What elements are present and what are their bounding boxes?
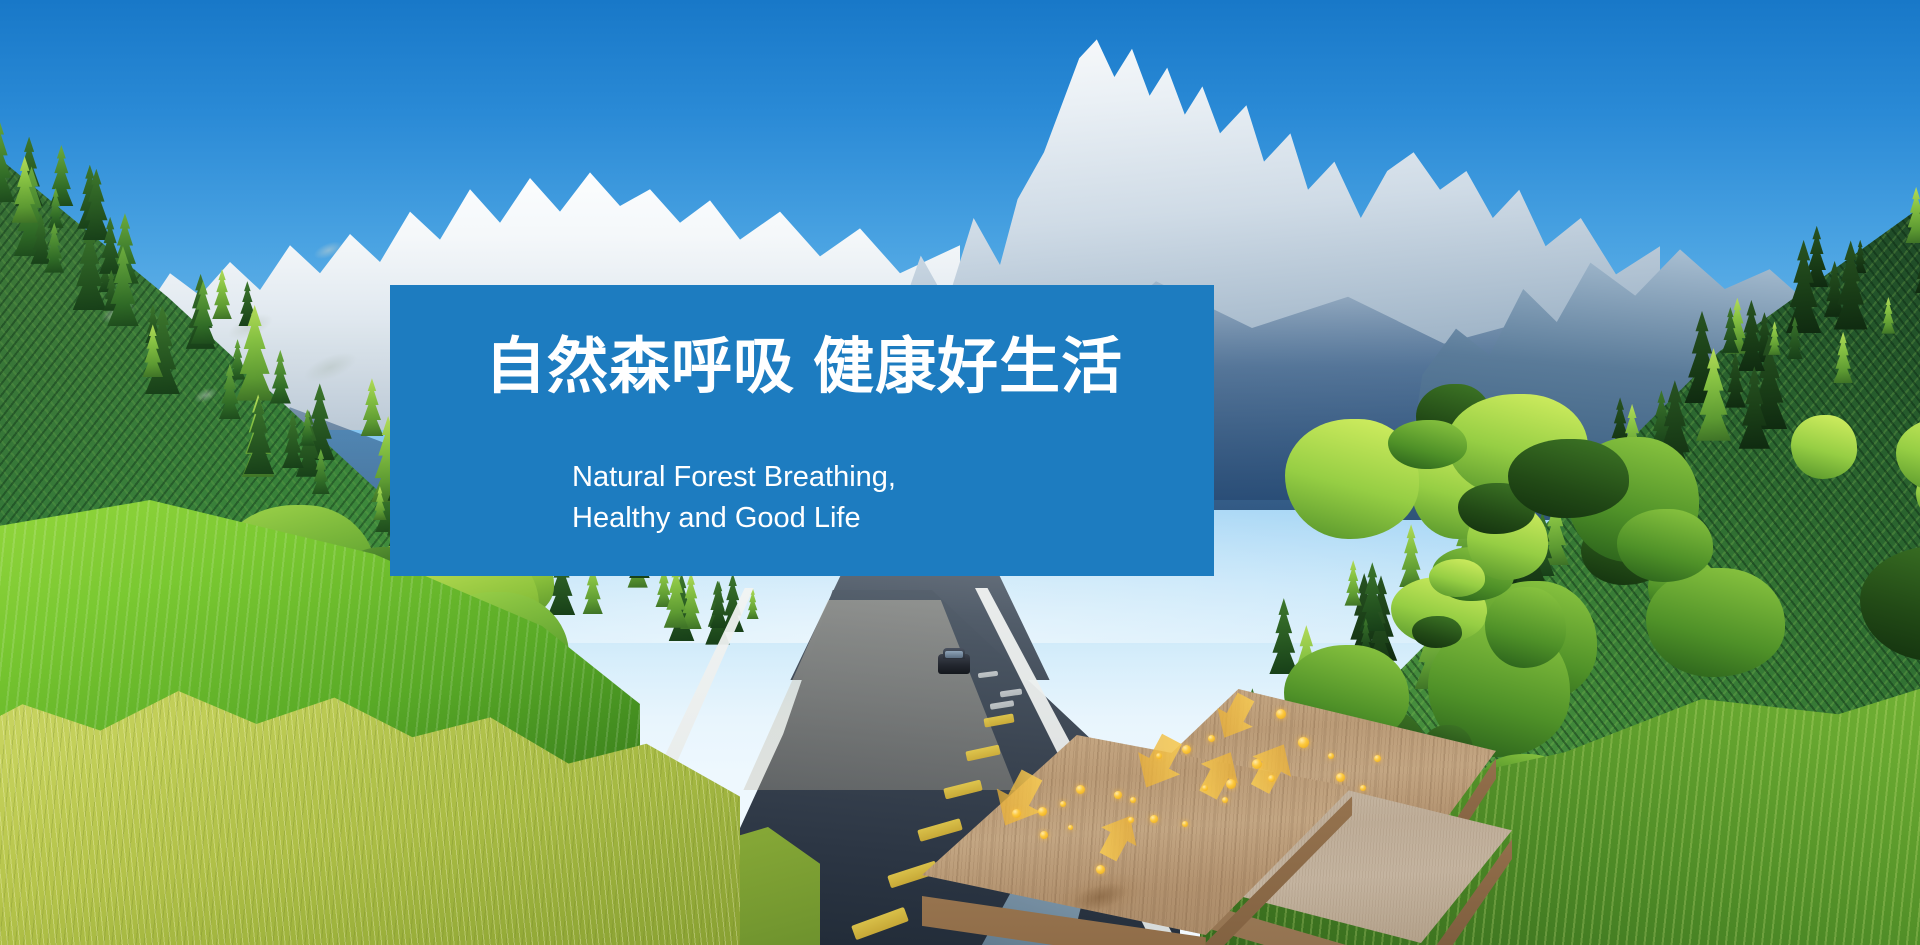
car-windshield — [945, 651, 963, 658]
air-particle-icon — [1276, 709, 1286, 719]
foliage-blob — [1388, 420, 1467, 469]
air-particle-icon — [1114, 791, 1122, 799]
air-particle-icon — [1182, 745, 1191, 754]
foliage-blob — [1429, 559, 1485, 597]
page-subtitle: Natural Forest Breathing, Healthy and Go… — [572, 457, 896, 539]
airflow-arrow-icon — [1241, 734, 1303, 799]
air-particle-icon — [1130, 797, 1136, 803]
air-particle-icon — [1038, 807, 1047, 816]
car-icon — [938, 648, 970, 676]
air-particle-icon — [1012, 809, 1021, 818]
foliage-blob — [1791, 415, 1857, 479]
foliage-blob — [1508, 439, 1629, 519]
hero-banner-scene: 自然森呼吸 健康好生活 Natural Forest Breathing, He… — [0, 0, 1920, 945]
foliage-blob — [1485, 587, 1567, 668]
air-particle-icon — [1336, 773, 1345, 782]
air-particle-icon — [1202, 785, 1208, 791]
airflow-arrow-icon — [1090, 807, 1147, 867]
airflow-arrow-icon — [1125, 728, 1193, 799]
air-particle-icon — [1068, 825, 1073, 830]
airflow-arrow-icon — [1207, 688, 1264, 748]
air-particle-icon — [1208, 735, 1215, 742]
foliage-blob — [1617, 509, 1713, 582]
wood-flooring-planks — [950, 675, 1490, 945]
airflow-arrow-icon — [1190, 742, 1250, 804]
air-particle-icon — [1226, 779, 1236, 789]
air-particle-icon — [1182, 821, 1188, 827]
foliage-blob — [1646, 568, 1785, 677]
air-particle-icon — [1076, 785, 1085, 794]
page-title: 自然森呼吸 健康好生活 — [485, 333, 1123, 400]
hero-text-banner: 自然森呼吸 健康好生活 Natural Forest Breathing, He… — [390, 285, 1214, 576]
air-particle-icon — [1156, 753, 1162, 759]
foliage-blob — [1412, 616, 1462, 648]
air-particle-icon — [1222, 797, 1228, 803]
air-particle-icon — [1268, 775, 1275, 782]
air-particle-icon — [1252, 759, 1262, 769]
air-particle-icon — [1298, 737, 1309, 748]
air-particle-icon — [1060, 801, 1066, 807]
air-particle-icon — [1128, 817, 1134, 823]
air-particle-icon — [1040, 831, 1048, 839]
airflow-arrow-icon — [983, 763, 1053, 837]
air-particle-icon — [1360, 785, 1366, 791]
airflow-arrows-group — [950, 675, 1490, 945]
air-particle-icon — [1374, 755, 1381, 762]
air-particle-icon — [1150, 815, 1158, 823]
air-particle-icon — [1096, 865, 1105, 874]
air-particle-icon — [1328, 753, 1334, 759]
